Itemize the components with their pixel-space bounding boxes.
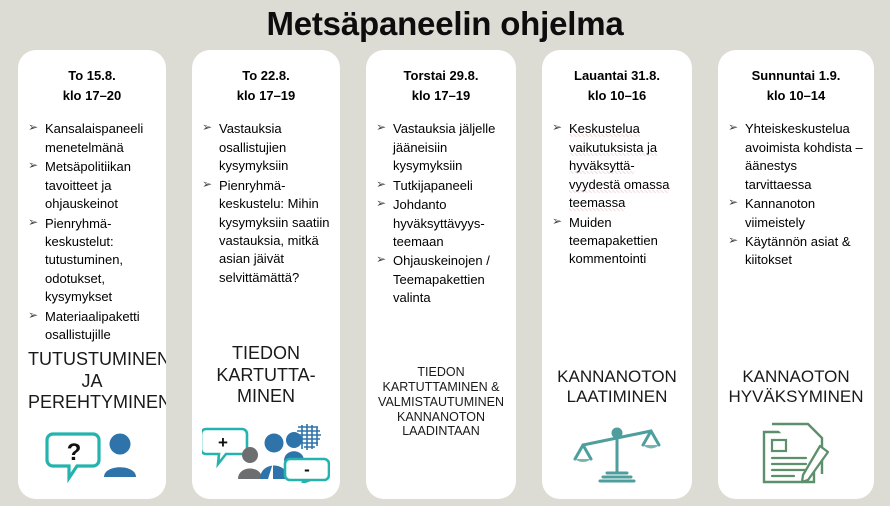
list-item: ➢Metsäpolitiikan tavoitteet ja ohjauskei… [28,158,156,213]
gap-4 [692,50,718,499]
document-pen-icon [758,418,834,486]
card-4-time: klo 10–16 [552,86,682,106]
list-item: ➢Ohjauskeinojen / Teemapakettien valinta [376,252,506,307]
arrow-bullet-icon: ➢ [728,232,738,249]
arrow-bullet-icon: ➢ [28,157,38,174]
arrow-bullet-icon: ➢ [728,194,738,211]
card-2-time: klo 17–19 [202,86,330,106]
card-1-icon-area: ? [28,419,156,491]
bullet-text: Keskustelua vaikutuksista ja hyväksyttä-… [569,121,669,211]
card-4-icon-area [552,413,682,491]
card-2-phase-label: TIEDON KARTUTTA-MINEN [202,343,330,407]
card-5-phase-label: KANNAOTON HYVÄKSYMINEN [728,367,864,407]
left-spacer [0,50,18,499]
list-item: ➢Pienryhmä-keskustelut: tutustuminen, od… [28,215,156,307]
arrow-bullet-icon: ➢ [376,195,386,212]
card-4-phase-label: KANNANOTON LAATIMINEN [552,367,682,407]
card-1-date: To 15.8. klo 17–20 [28,66,156,106]
svg-text:+: + [218,433,228,452]
program-card-4[interactable]: Lauantai 31.8. klo 10–16 ➢Keskustelua va… [542,50,692,499]
arrow-bullet-icon: ➢ [728,119,738,136]
list-item: ➢Keskustelua vaikutuksista ja hyväksyttä… [552,120,682,212]
bullet-text: Johdanto hyväksyttävyys-teemaan [393,197,485,249]
bullet-text: Ohjauskeinojen / Teemapakettien valinta [393,253,490,305]
card-5-bullet-list: ➢Yhteiskeskustelua avoimista kohdista – … [728,120,864,271]
arrow-bullet-icon: ➢ [28,307,38,324]
list-item: ➢Yhteiskeskustelua avoimista kohdista – … [728,120,864,194]
card-5-day: Sunnuntai 1.9. [752,68,841,83]
page-title: Metsäpaneelin ohjelma [0,0,890,48]
card-3-icon-area [376,445,506,491]
bullet-text: Vastauksia osallistujien kysymyksiin [219,121,288,173]
list-item: ➢Muiden teemapakettien kommentointi [552,214,682,269]
arrow-bullet-icon: ➢ [376,119,386,136]
bullet-text: Metsäpolitiikan tavoitteet ja ohjauskein… [45,159,131,211]
arrow-bullet-icon: ➢ [28,119,38,136]
bullet-text: Pienryhmä-keskustelu: Mihin kysymyksiin … [219,178,330,285]
program-timeline: To 15.8. klo 17–20 ➢Kansalaispaneeli men… [0,50,890,499]
bullet-text: Kansalaispaneeli menetelmänä [45,121,143,154]
card-3-date: Torstai 29.8. klo 17–19 [376,66,506,106]
card-4-date: Lauantai 31.8. klo 10–16 [552,66,682,106]
svg-text:?: ? [67,439,82,466]
bullet-text: Kannanoton viimeistely [745,196,815,229]
program-card-1[interactable]: To 15.8. klo 17–20 ➢Kansalaispaneeli men… [18,50,166,499]
question-bubble-person-icon: ? [44,427,140,483]
card-2-icon-area: + - [202,413,330,491]
list-item: ➢Käytännön asiat & kiitokset [728,233,864,270]
list-item: ➢Vastauksia jäljelle jääneisiin kysymyks… [376,120,506,175]
scales-balance-icon [573,419,661,485]
bullet-text: Muiden teemapakettien kommentointi [569,215,658,267]
card-3-phase-label: TIEDON KARTUTTAMINEN & VALMISTAUTUMINEN … [376,365,506,439]
bullet-text: Vastauksia jäljelle jääneisiin kysymyksi… [393,121,495,173]
gap-1 [166,50,192,499]
arrow-bullet-icon: ➢ [202,176,212,193]
card-2-day: To 22.8. [242,68,289,83]
arrow-bullet-icon: ➢ [376,176,386,193]
card-3-day: Torstai 29.8. [404,68,479,83]
bullet-text: Käytännön asiat & kiitokset [745,234,851,267]
gap-2 [340,50,366,499]
right-spacer [874,50,884,499]
list-item: ➢Vastauksia osallistujien kysymyksiin [202,120,330,175]
card-3-bullet-list: ➢Vastauksia jäljelle jääneisiin kysymyks… [376,120,506,309]
card-4-day: Lauantai 31.8. [574,68,660,83]
list-item: ➢Kansalaispaneeli menetelmänä [28,120,156,157]
arrow-bullet-icon: ➢ [552,213,562,230]
card-4-bullet-list: ➢Keskustelua vaikutuksista ja hyväksyttä… [552,120,682,270]
bullet-text: Materiaalipaketti osallistujille [45,309,140,342]
list-item: ➢Kannanoton viimeistely [728,195,864,232]
card-1-phase-label: TUTUSTUMINEN JA PEREHTYMINEN [28,349,156,413]
discussion-group-plus-minus-icon: + - [202,421,330,483]
arrow-bullet-icon: ➢ [552,119,562,136]
arrow-bullet-icon: ➢ [28,214,38,231]
program-card-3[interactable]: Torstai 29.8. klo 17–19 ➢Vastauksia jälj… [366,50,516,499]
card-5-time: klo 10–14 [728,86,864,106]
arrow-bullet-icon: ➢ [376,251,386,268]
card-2-bullet-list: ➢Vastauksia osallistujien kysymyksiin ➢P… [202,120,330,288]
card-3-time: klo 17–19 [376,86,506,106]
bullet-text: Yhteiskeskustelua avoimista kohdista – ä… [745,121,863,191]
bullet-text: Tutkijapaneeli [393,178,473,193]
arrow-bullet-icon: ➢ [202,119,212,136]
list-item: ➢Tutkijapaneeli [376,177,506,195]
card-1-bullet-list: ➢Kansalaispaneeli menetelmänä ➢Metsäpoli… [28,120,156,345]
bullet-text: Pienryhmä-keskustelut: tutustuminen, odo… [45,216,123,305]
program-card-2[interactable]: To 22.8. klo 17–19 ➢Vastauksia osallistu… [192,50,340,499]
list-item: ➢Pienryhmä-keskustelu: Mihin kysymyksiin… [202,177,330,288]
card-5-date: Sunnuntai 1.9. klo 10–14 [728,66,864,106]
card-1-time: klo 17–20 [28,86,156,106]
card-2-date: To 22.8. klo 17–19 [202,66,330,106]
list-item: ➢Johdanto hyväksyttävyys-teemaan [376,196,506,251]
card-5-icon-area [728,413,864,491]
program-card-5[interactable]: Sunnuntai 1.9. klo 10–14 ➢Yhteiskeskuste… [718,50,874,499]
gap-3 [516,50,542,499]
list-item: ➢Materiaalipaketti osallistujille [28,308,156,345]
svg-text:-: - [304,460,310,479]
card-1-day: To 15.8. [68,68,115,83]
